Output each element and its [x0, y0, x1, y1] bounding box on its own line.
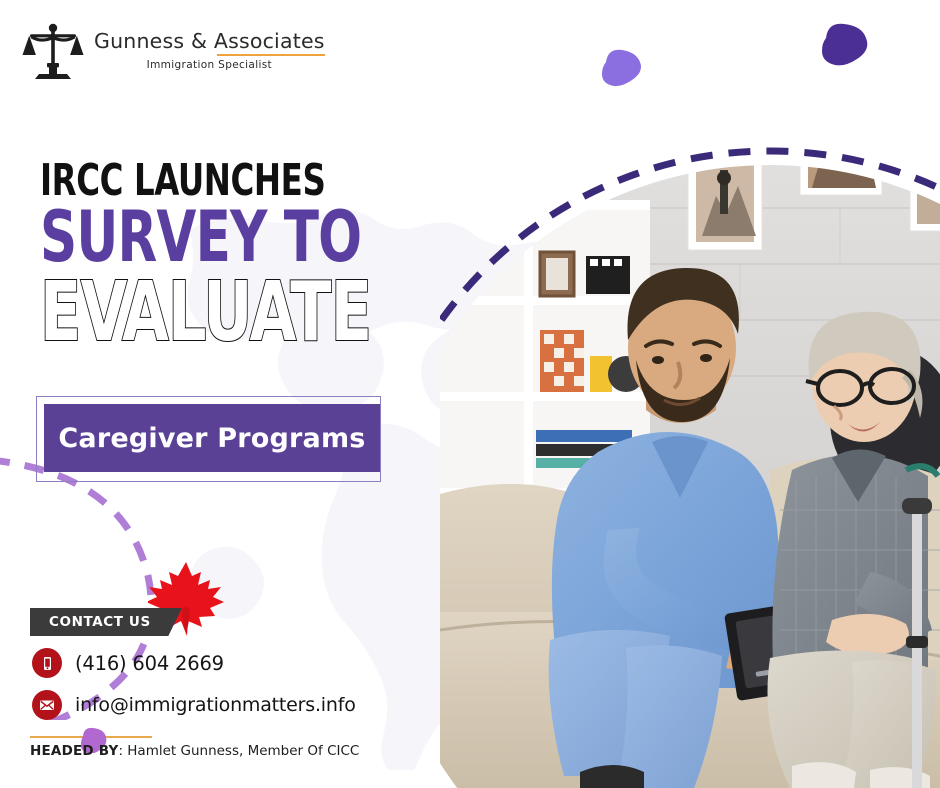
brand-accent-rule	[217, 54, 325, 56]
headed-by-line: HEADED BY: Hamlet Gunness, Member Of CIC…	[30, 743, 359, 759]
contact-us-label: CONTACT US	[49, 614, 151, 630]
contact-us-badge: CONTACT US	[30, 608, 182, 636]
headline-line-2: SURVEY TO	[40, 204, 425, 272]
headline-line-3: EVALUATE	[40, 272, 425, 354]
brand-tagline: Immigration Specialist	[147, 59, 272, 71]
headed-by-label: HEADED BY	[30, 743, 118, 759]
contact-phone-row[interactable]: (416) 604 2669	[32, 648, 224, 678]
brand-logo[interactable]: Gunness & Associates Immigration Special…	[22, 22, 325, 80]
highlight-box: Caregiver Programs	[44, 404, 380, 472]
hero-photo-clip	[440, 0, 940, 788]
headline-block: IRCC LAUNCHES SURVEY TO EVALUATE	[40, 160, 510, 354]
mobile-phone-icon	[32, 648, 62, 678]
balance-scale-icon	[22, 22, 84, 80]
contact-phone-value: (416) 604 2669	[75, 652, 224, 675]
blob-dark-purple-icon	[816, 22, 868, 68]
poster-canvas: Gunness & Associates Immigration Special…	[0, 0, 940, 788]
blob-light-purple-icon	[598, 48, 642, 88]
hero-photo-region	[440, 0, 940, 788]
highlight-box-label: Caregiver Programs	[58, 423, 365, 454]
envelope-icon	[32, 690, 62, 720]
brand-text: Gunness & Associates Immigration Special…	[94, 31, 325, 71]
headed-by-value: Hamlet Gunness, Member Of CICC	[127, 743, 359, 759]
contact-email-row[interactable]: info@immigrationmatters.info	[32, 690, 356, 720]
caregiver-with-senior-woman-photo	[440, 0, 940, 788]
headed-by-separator: :	[118, 743, 127, 759]
contact-email-value: info@immigrationmatters.info	[75, 694, 356, 716]
brand-name: Gunness & Associates	[94, 31, 325, 53]
